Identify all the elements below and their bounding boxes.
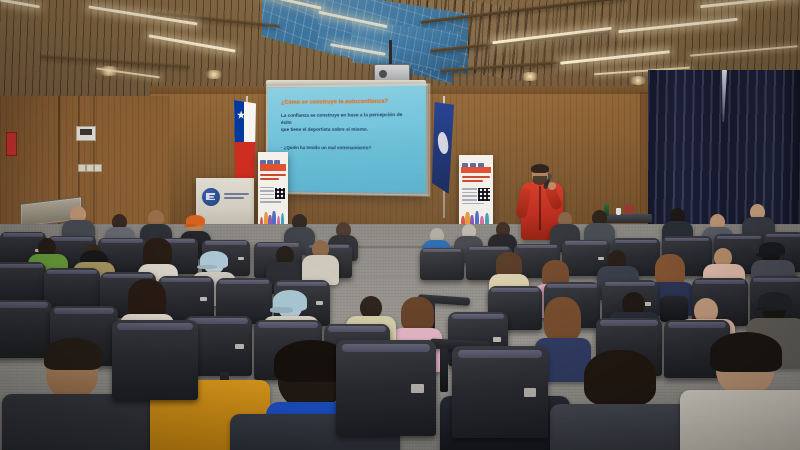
speaker-hand [548,182,556,190]
institution-logo-icon [202,188,220,206]
flag-emblem-icon [436,132,450,156]
long-hair [128,279,166,319]
auditorium-seat[interactable] [452,346,548,438]
banner-logos [260,155,285,163]
lectern-wordmark [224,193,249,201]
qr-code-icon [274,187,286,201]
seat-number-tag [644,302,651,306]
seat-number-tag [200,297,207,301]
light-switch-plate[interactable] [78,164,86,172]
seat-number-tag [411,384,424,393]
seat-number-tag [598,257,604,260]
light-switch-plate[interactable] [94,164,102,172]
speaker-beard [533,176,547,185]
auditorium-seat[interactable] [336,340,436,436]
exit-sign [6,132,17,156]
seat-number-tag [524,388,536,396]
light-blue-cap [273,290,307,311]
black-cap [758,292,792,310]
black-cap [759,242,785,256]
banner-tagline [260,164,286,171]
light-switch-plate[interactable] [86,164,94,172]
qr-code-icon [477,187,491,202]
person-torso [2,394,152,450]
chile-flag [234,100,256,188]
person-hair [710,332,782,372]
ceiling-downlight [98,66,120,76]
banner-title [462,176,491,184]
long-hair [401,297,434,331]
banner-title [260,174,285,182]
light-blue-cap [200,251,228,268]
ceiling-downlight [204,70,224,79]
notice-sign-graphic [80,129,93,135]
notice-sign [76,126,96,141]
seat-leg [440,348,448,392]
orange-cap [186,215,205,226]
jacket-zipper [539,186,541,230]
auditorium-photo: ¿Cómo se construye la autoconfianza? La … [0,0,800,450]
ceiling-downlight [520,72,540,81]
box-object [624,205,634,213]
person-hair [584,350,656,406]
projector-lens-icon [379,70,387,78]
seat-number-tag [235,344,244,349]
speaker-hair [531,164,549,173]
seat-number-tag [493,337,501,342]
projection-screen-frame [266,83,430,196]
seat-number-tag [316,301,323,305]
long-hair [544,297,581,341]
ceiling-downlight [628,76,648,85]
person-torso [680,390,800,450]
projector-mount-pole [389,40,392,66]
cup [616,208,621,215]
auditorium-seat[interactable] [420,248,464,280]
backpack [660,296,688,322]
person-torso [550,404,700,450]
person-hair [44,338,102,370]
seat-number-tag [238,257,244,260]
flag-canton [234,100,244,142]
auditorium-seat[interactable] [112,320,198,400]
banner-tagline [461,167,491,173]
banner-logos [462,158,491,165]
